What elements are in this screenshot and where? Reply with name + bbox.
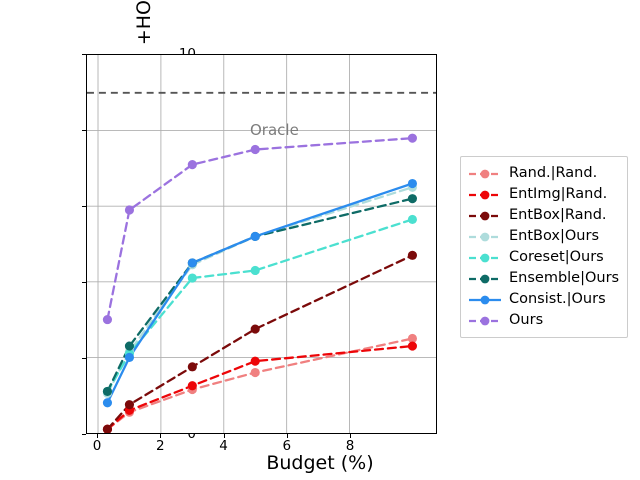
x-tick-mark	[160, 434, 161, 438]
legend-item-label: EntBox|Rand.	[509, 208, 607, 223]
x-tick-mark	[287, 434, 288, 438]
legend-line-marker-icon	[468, 272, 502, 286]
chart-figure: 0246810 02468 Oracle Budget (%) +HOTA Ra…	[0, 0, 640, 480]
legend-item[interactable]: Consist.|Ours	[468, 289, 619, 310]
legend-line-marker-icon	[468, 251, 502, 265]
legend-item[interactable]: Ours	[468, 310, 619, 331]
legend-line-marker-icon	[468, 188, 502, 202]
legend-line-marker-icon	[468, 230, 502, 244]
x-tick-mark	[97, 434, 98, 438]
chart-legend: Rand.|Rand.EntImg|Rand.EntBox|Rand.EntBo…	[460, 156, 628, 338]
legend-line-marker-icon	[468, 293, 502, 307]
legend-item-label: Consist.|Ours	[509, 292, 606, 307]
legend-item-label: Rand.|Rand.	[509, 166, 597, 181]
legend-item[interactable]: EntImg|Rand.	[468, 184, 619, 205]
x-axis-title: Budget (%)	[0, 452, 640, 474]
legend-item-label: Ensemble|Ours	[509, 271, 619, 286]
legend-line-marker-icon	[468, 209, 502, 223]
legend-item[interactable]: Ensemble|Ours	[468, 268, 619, 289]
x-tick-mark	[350, 434, 351, 438]
legend-line-marker-icon	[468, 314, 502, 328]
x-tick-mark	[224, 434, 225, 438]
legend-item[interactable]: EntBox|Ours	[468, 226, 619, 247]
legend-item[interactable]: EntBox|Rand.	[468, 205, 619, 226]
legend-line-marker-icon	[468, 167, 502, 181]
legend-item[interactable]: Rand.|Rand.	[468, 163, 619, 184]
y-axis-title: +HOTA	[133, 0, 155, 251]
legend-item-label: Ours	[509, 313, 543, 328]
legend-item-label: EntImg|Rand.	[509, 187, 607, 202]
oracle-label: Oracle	[250, 121, 299, 139]
legend-item-label: EntBox|Ours	[509, 229, 599, 244]
legend-item[interactable]: Coreset|Ours	[468, 247, 619, 268]
y-tick-mark	[82, 434, 86, 435]
legend-item-label: Coreset|Ours	[509, 250, 604, 265]
